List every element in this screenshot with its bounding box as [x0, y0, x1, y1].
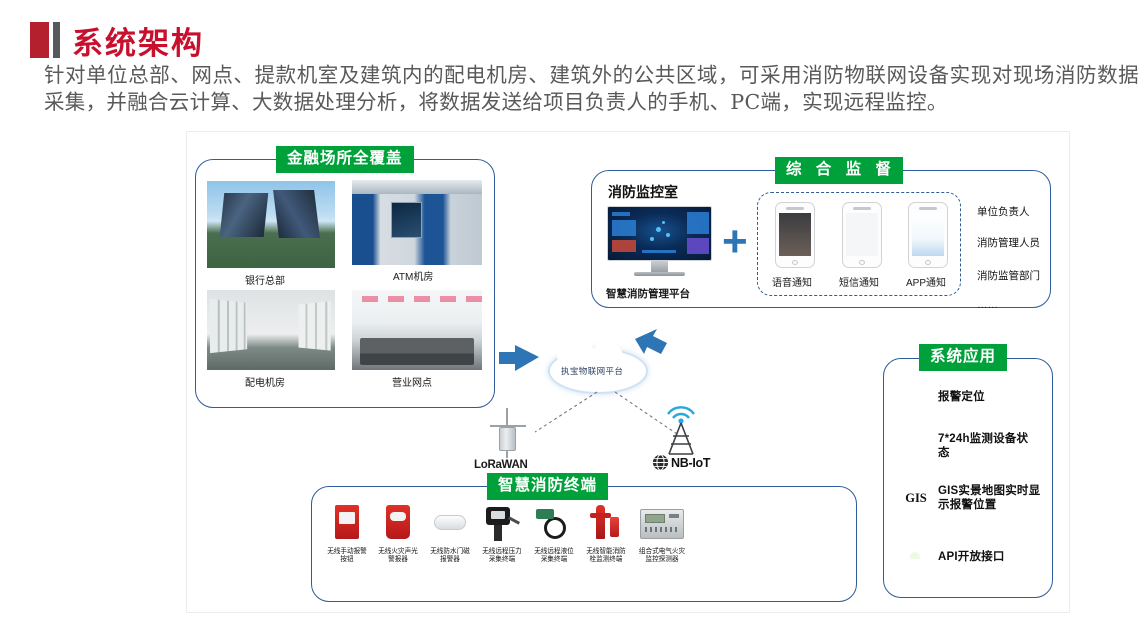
header-accent-bar-gray [53, 22, 60, 58]
device-label-0: 无线手动报警按钮 [325, 548, 369, 564]
device-item-1: 无线火灾声光警报器 [376, 503, 420, 564]
application-item-alarm-location: 报警定位 [903, 384, 1043, 410]
recipient-label-1: 消防管理人员 [977, 235, 1040, 250]
alarm-location-pin-icon [903, 384, 929, 410]
plus-icon: + [722, 220, 748, 264]
slide-root: 系统架构 针对单位总部、网点、提款机室及建筑内的配电机房、建筑外的公共区域，可采… [0, 0, 1148, 618]
phone-home-button [859, 260, 865, 265]
control-room-monitor [607, 206, 712, 278]
venue-photo-branch [352, 290, 482, 370]
pressure-sensor-icon [480, 503, 524, 545]
device-item-2: 无线防水门磁报警器 [428, 503, 472, 564]
platform-label: 智慧消防管理平台 [606, 286, 690, 301]
venue-photo-power-room [207, 290, 335, 370]
venue-photo-atm-room [352, 180, 482, 265]
sound-light-alarm-icon [376, 503, 420, 545]
venue-photo-bank-headquarters [207, 181, 335, 268]
device-item-6: 组合式电气火灾监控探测器 [636, 503, 688, 564]
application-label-3: API开放接口 [938, 550, 1005, 564]
device-label-3: 无线远程压力采集终端 [480, 548, 524, 564]
electrical-fire-detector-icon [636, 503, 688, 545]
page-title: 系统架构 [72, 18, 204, 63]
application-item-monitoring: 7*24h监测设备状态 [903, 432, 1049, 460]
api-cloud-icon [903, 544, 929, 570]
monitor-screen [607, 206, 712, 261]
device-item-5: 无线智能消防栓监测终端 [584, 503, 628, 564]
venues-chip-label: 金融场所全覆盖 [276, 146, 414, 173]
header-accent-bar-red [30, 22, 49, 58]
application-label-2: GIS实景地图实时显示报警位置 [938, 484, 1042, 512]
phone-home-button [925, 260, 931, 265]
device-label-1: 无线火灾声光警报器 [376, 548, 420, 564]
manual-alarm-button-icon [325, 503, 369, 545]
globe-icon [652, 454, 669, 471]
phone-notch [786, 207, 804, 210]
application-item-api: API开放接口 [903, 544, 1043, 570]
notification-phone-voice [775, 202, 815, 268]
device-item-3: 无线远程压力采集终端 [480, 503, 524, 564]
liquid-level-sensor-icon [532, 503, 576, 545]
application-label-1: 7*24h监测设备状态 [938, 432, 1038, 460]
voice-call-screen [779, 213, 811, 256]
venue-label-bank-headquarters: 银行总部 [245, 272, 285, 287]
supervision-chip-label: 综 合 监 督 [775, 157, 903, 184]
venue-label-power-room: 配电机房 [245, 374, 285, 389]
thermometer-monitor-icon [903, 433, 929, 459]
control-room-title: 消防监控室 [608, 182, 678, 202]
phone-home-button [792, 260, 798, 265]
app-screen [912, 213, 944, 256]
smart-hydrant-monitor-icon [584, 503, 628, 545]
architecture-diagram-panel: 金融场所全覆盖 银行总部 ATM机房 配电机房 营业网点 综 合 监 督 消防监… [186, 131, 1070, 613]
phone-notch [853, 207, 871, 210]
door-magnetic-sensor-icon [428, 503, 472, 545]
terminals-chip-label: 智慧消防终端 [487, 473, 608, 500]
device-label-6: 组合式电气火灾监控探测器 [636, 548, 688, 564]
recipient-label-3: …… [977, 299, 998, 311]
device-label-2: 无线防水门磁报警器 [428, 548, 472, 564]
monitor-base [634, 272, 684, 276]
notification-phone-sms [842, 202, 882, 268]
notification-label-sms: 短信通知 [839, 274, 879, 289]
device-label-4: 无线远程液位采集终端 [532, 548, 576, 564]
venue-label-atm-room: ATM机房 [393, 268, 433, 283]
intro-paragraph: 针对单位总部、网点、提款机室及建筑内的配电机房、建筑外的公共区域，可采用消防物联… [44, 62, 1139, 115]
monitor-stand [651, 261, 668, 273]
notification-phone-app [908, 202, 948, 268]
nbiot-tower-icon [657, 404, 705, 458]
application-item-gis: GIS GIS实景地图实时显示报警位置 [903, 484, 1053, 512]
device-item-0: 无线手动报警按钮 [325, 503, 369, 564]
nbiot-label: NB-IoT [671, 456, 710, 470]
recipient-label-2: 消防监管部门 [977, 268, 1040, 283]
device-label-5: 无线智能消防栓监测终端 [584, 548, 628, 564]
gis-icon: GIS [903, 485, 929, 511]
lorawan-label: LoRaWAN [474, 459, 527, 471]
sms-screen [846, 213, 878, 256]
applications-chip-label: 系统应用 [919, 344, 1007, 371]
phone-notch [919, 207, 937, 210]
recipient-label-0: 单位负责人 [977, 204, 1030, 219]
device-item-4: 无线远程液位采集终端 [532, 503, 576, 564]
notification-label-voice: 语音通知 [772, 274, 812, 289]
application-label-0: 报警定位 [938, 390, 985, 404]
venue-label-branch: 营业网点 [392, 374, 432, 389]
lorawan-gateway-icon [482, 408, 534, 458]
notification-label-app: APP通知 [906, 274, 946, 289]
